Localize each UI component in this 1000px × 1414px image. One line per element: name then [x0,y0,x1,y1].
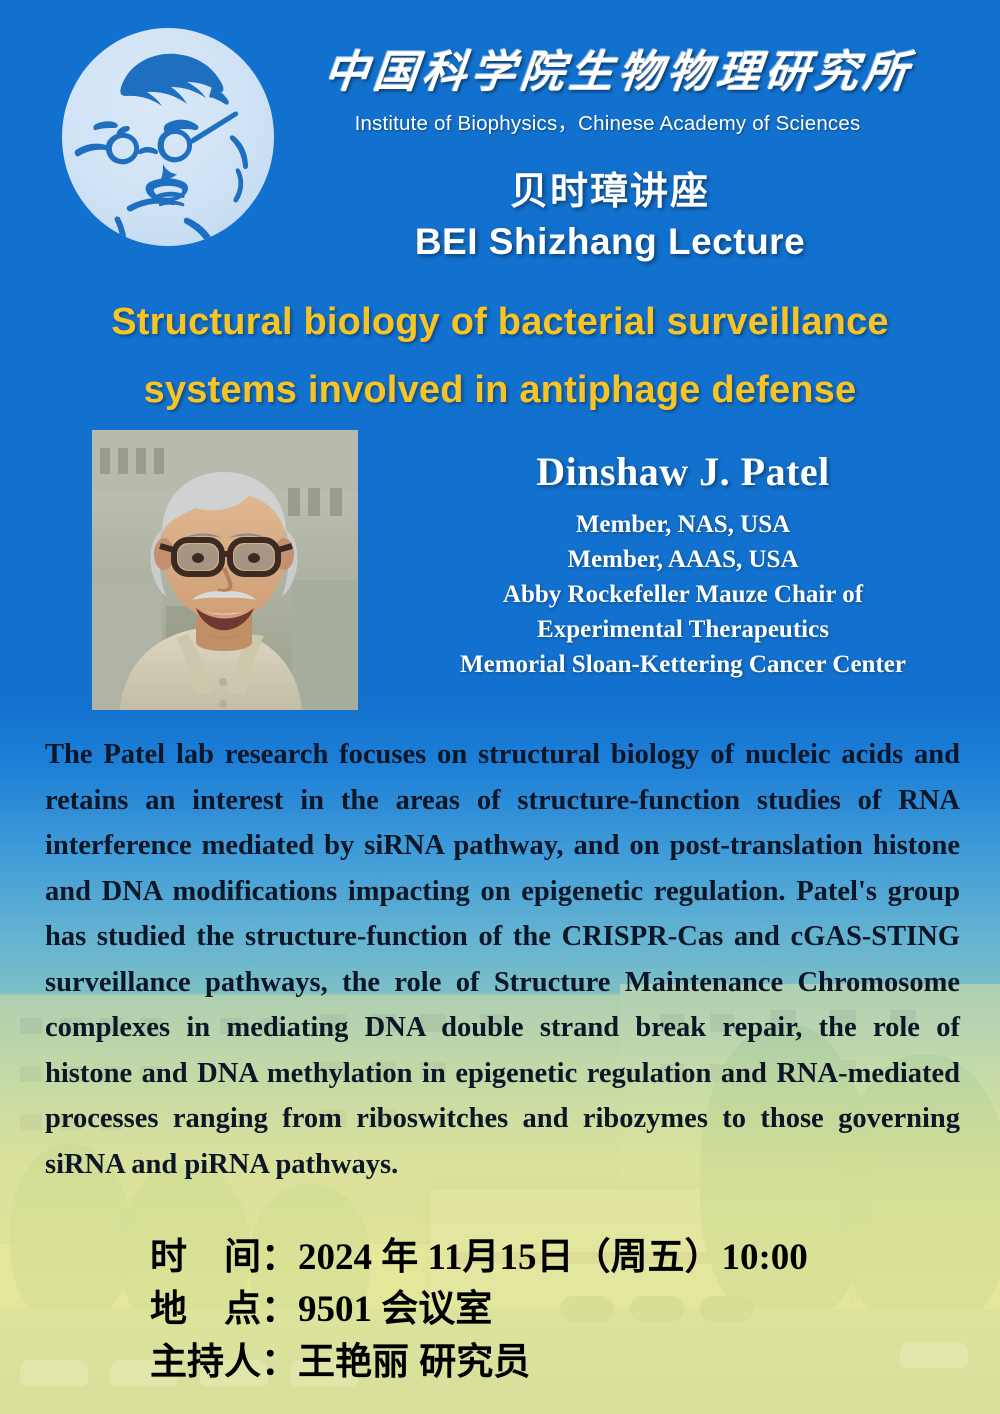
event-time-row: 时 间：2024 年 11月15日（周五）10:00 [150,1232,970,1284]
lecture-poster: 中国科学院生物物理研究所 Institute of Biophysics，Chi… [0,0,1000,1414]
talk-title-line-2: systems involved in antiphage defense [40,356,960,424]
lecture-series-heading: 贝时璋讲座 BEI Shizhang Lecture [300,160,920,263]
talk-title: Structural biology of bacterial surveill… [40,288,960,424]
affiliation-line: Abby Rockefeller Mauze Chair of [378,577,988,612]
speaker-info: Dinshaw J. Patel Member, NAS, USA Member… [378,448,988,682]
affiliation-line: Memorial Sloan-Kettering Cancer Center [378,647,988,682]
speaker-name: Dinshaw J. Patel [378,448,988,495]
speaker-photo [92,430,358,710]
talk-title-line-1: Structural biology of bacterial surveill… [40,288,960,356]
event-place-row: 地 点：9501 会议室 [150,1284,970,1336]
institute-name-english: Institute of Biophysics，Chinese Academy … [325,106,890,136]
series-title-chinese: 贝时璋讲座 [300,160,920,215]
institute-name-block: 中国科学院生物物理研究所 Institute of Biophysics，Chi… [325,36,890,136]
affiliation-line: Experimental Therapeutics [378,612,988,647]
institute-name-chinese: 中国科学院生物物理研究所 [322,36,894,100]
event-host-row: 主持人：王艳丽 研究员 [150,1336,970,1388]
event-details: 时 间：2024 年 11月15日（周五）10:00 地 点：9501 会议室 … [150,1232,970,1388]
affiliation-line: Member, NAS, USA [378,507,988,542]
speaker-affiliations: Member, NAS, USA Member, AAAS, USA Abby … [378,507,988,682]
affiliation-line: Member, AAAS, USA [378,542,988,577]
series-title-english: BEI Shizhang Lecture [300,221,920,263]
institute-logo-portrait-icon [62,28,274,246]
abstract-paragraph: The Patel lab research focuses on struct… [45,732,960,1187]
